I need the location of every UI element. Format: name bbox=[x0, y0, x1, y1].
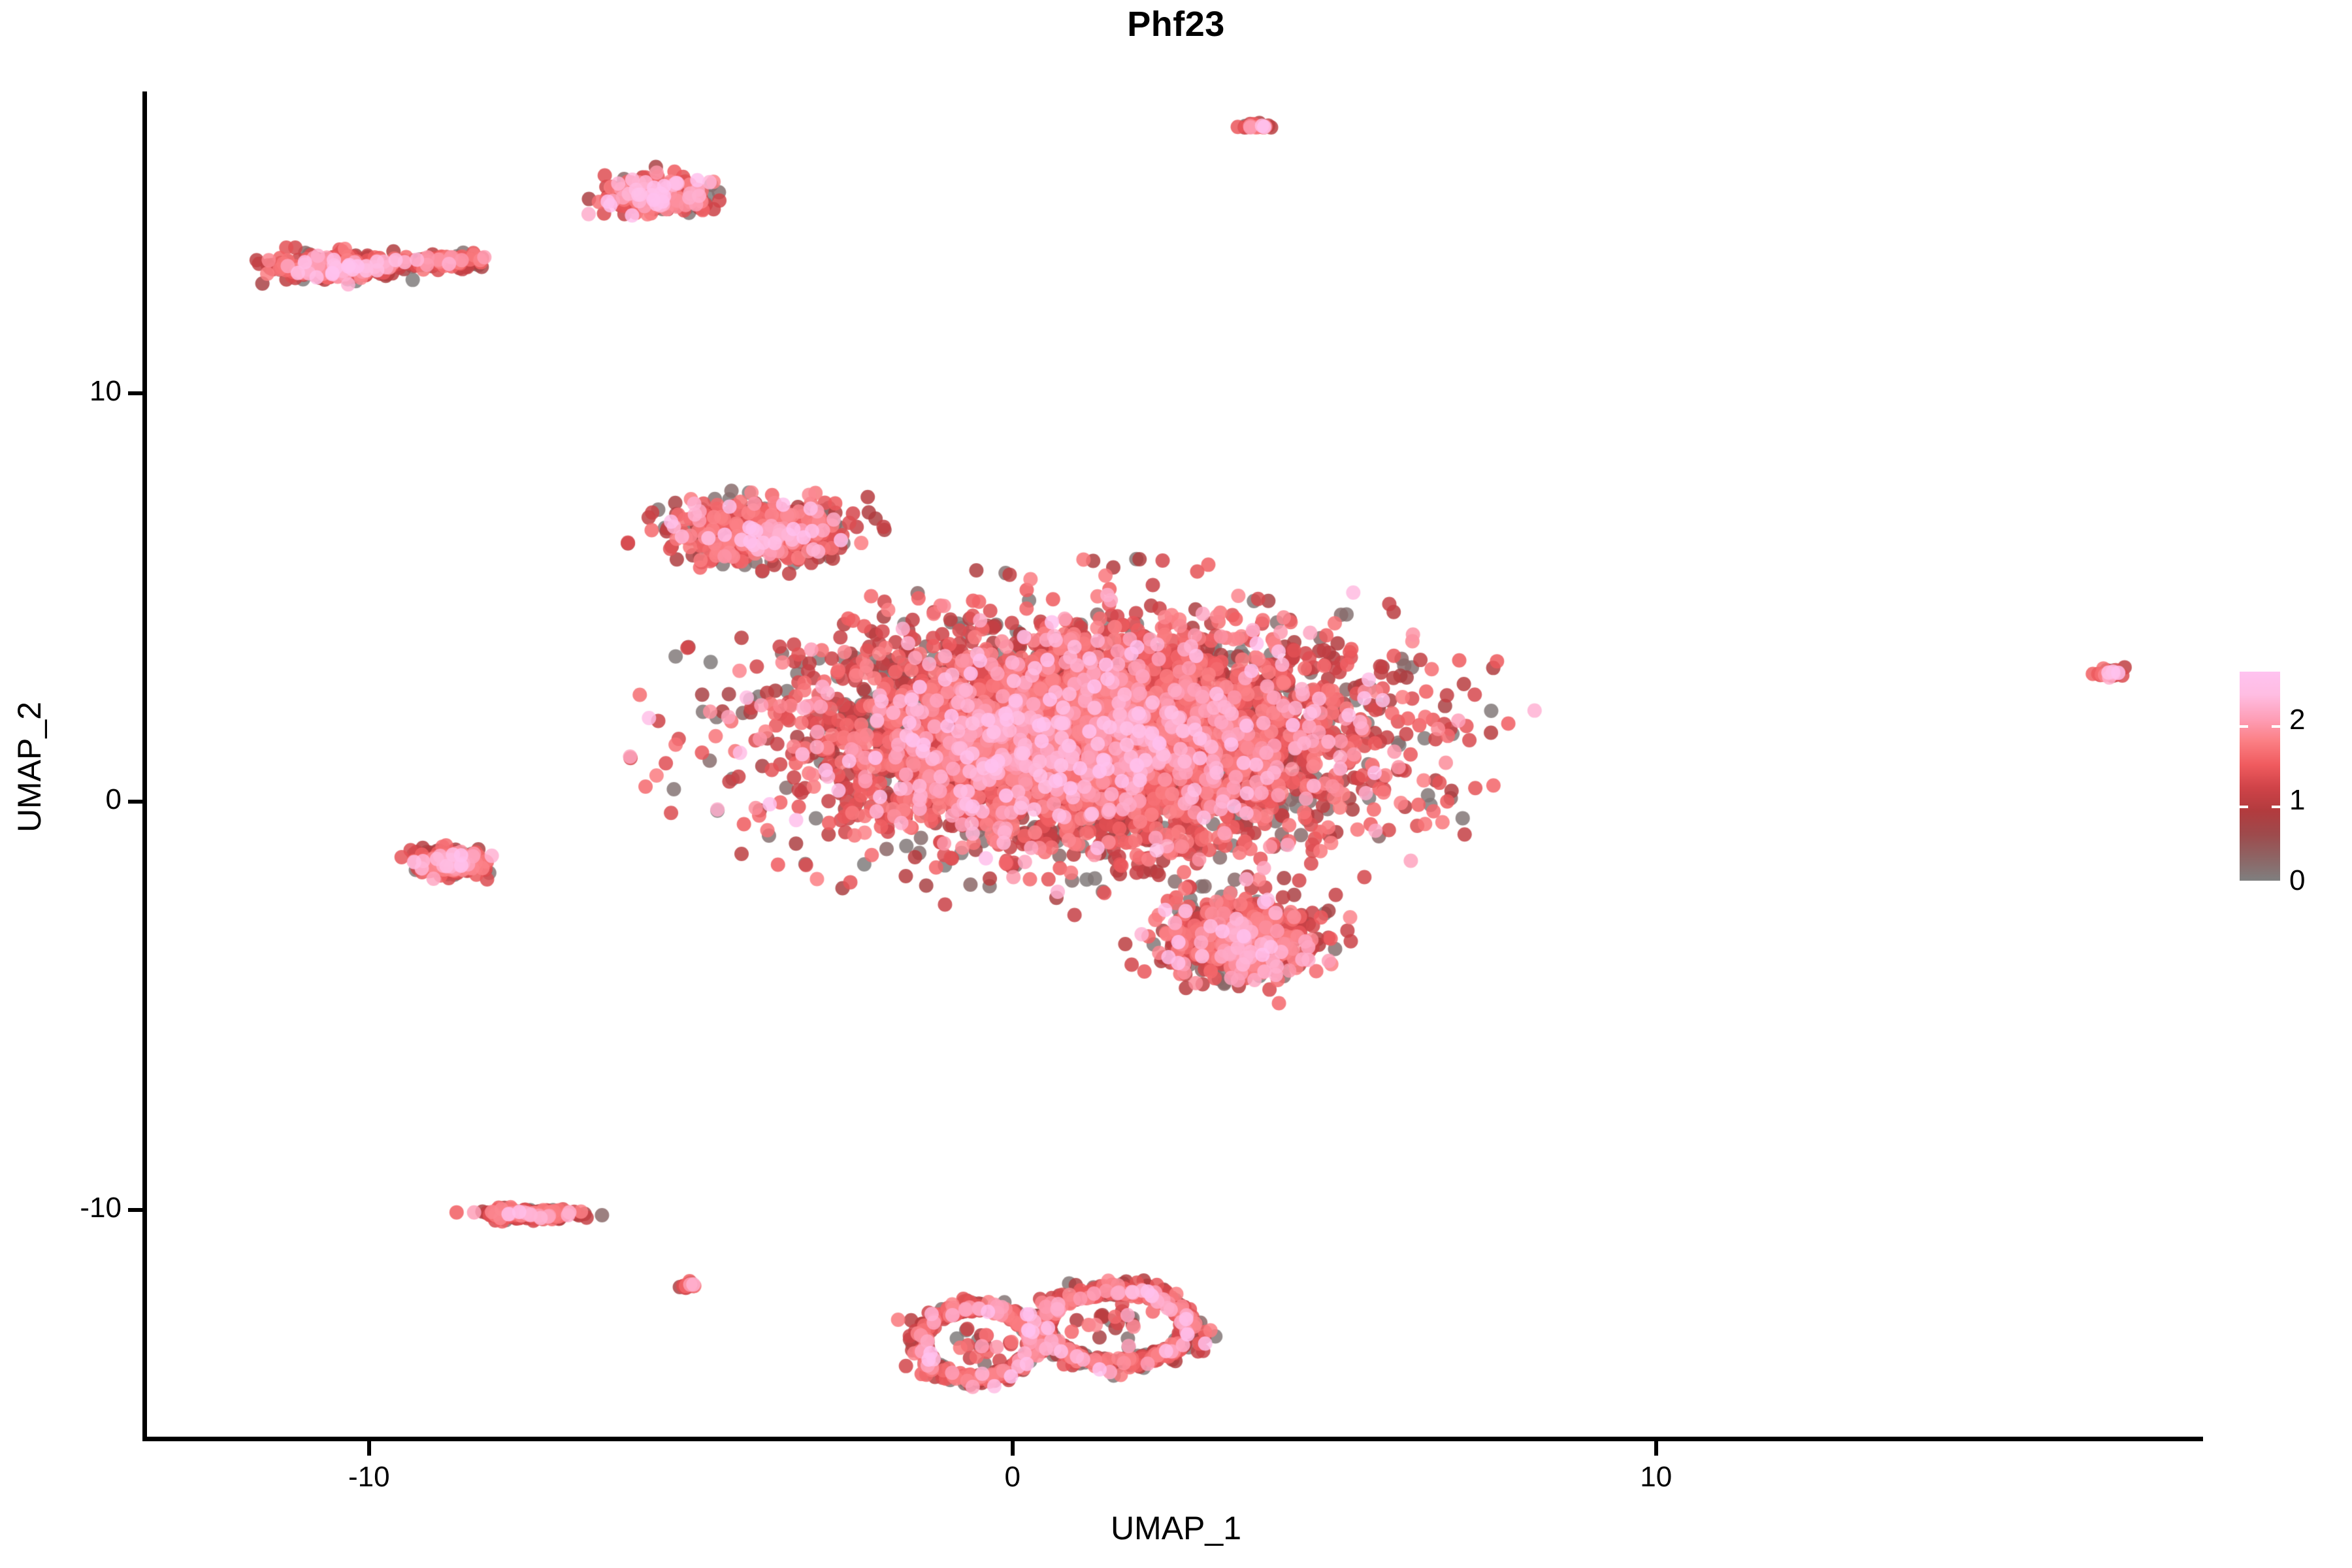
x-tick-mark bbox=[367, 1441, 371, 1456]
scatter-panel bbox=[144, 91, 2203, 1439]
x-tick-mark bbox=[1654, 1441, 1658, 1456]
y-tick-label: -10 bbox=[0, 1192, 122, 1224]
colorbar-tick-label: 2 bbox=[2289, 704, 2305, 736]
x-tick-label: 10 bbox=[1640, 1461, 1672, 1494]
x-axis-title: UMAP_1 bbox=[0, 1509, 2352, 1547]
y-axis-title: UMAP_2 bbox=[10, 571, 48, 963]
y-tick-mark bbox=[128, 800, 142, 804]
scatter-points-canvas bbox=[144, 91, 2203, 1439]
colorbar bbox=[2240, 672, 2280, 881]
colorbar-gradient bbox=[2240, 672, 2280, 881]
colorbar-tick-label: 1 bbox=[2289, 784, 2305, 817]
colorbar-tick bbox=[2240, 725, 2248, 728]
x-tick-mark bbox=[1011, 1441, 1015, 1456]
y-tick-label: 10 bbox=[0, 375, 122, 408]
colorbar-tick-label: 0 bbox=[2289, 864, 2305, 897]
y-axis-line bbox=[142, 91, 147, 1441]
x-axis-line bbox=[142, 1437, 2203, 1441]
y-tick-mark bbox=[128, 1208, 142, 1212]
colorbar-tick bbox=[2240, 806, 2248, 808]
colorbar-tick bbox=[2272, 806, 2280, 808]
colorbar-tick bbox=[2272, 725, 2280, 728]
colorbar-legend: 210 bbox=[2240, 665, 2344, 890]
feature-plot: Phf23 100-10 -10010 UMAP_1 UMAP_2 210 bbox=[0, 0, 2352, 1568]
x-tick-label: 0 bbox=[1005, 1461, 1021, 1494]
y-tick-mark bbox=[128, 391, 142, 395]
x-tick-label: -10 bbox=[348, 1461, 390, 1494]
page-title: Phf23 bbox=[0, 4, 2352, 44]
